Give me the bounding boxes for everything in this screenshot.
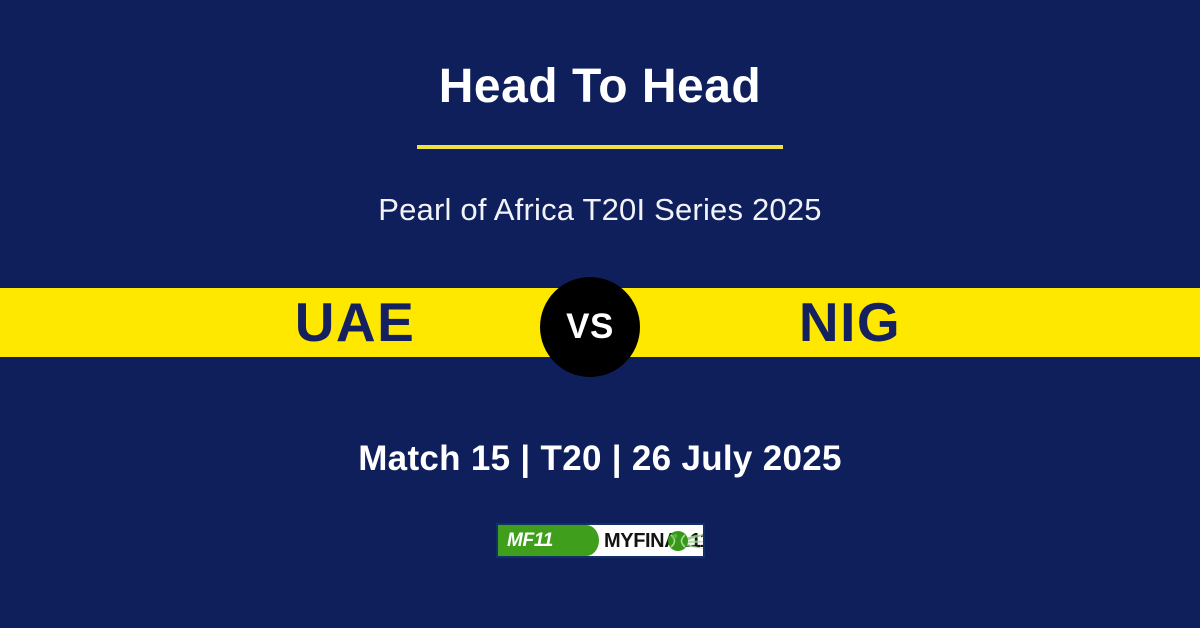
home-team-code: UAE [150,288,560,357]
brand-logo: MF11 MYFINAL11 [496,523,705,558]
series-subtitle: Pearl of Africa T20I Series 2025 [0,189,1200,231]
brand-wordmark: MYFINAL11 [586,525,705,556]
page-title: Head To Head [0,58,1200,116]
title-underline-rule [417,145,783,149]
match-meta: Match 15 | T20 | 26 July 2025 [0,437,1200,481]
away-team-code: NIG [645,288,1055,357]
brand-mark-label: MF11 [507,531,553,550]
versus-badge: VS [540,277,640,377]
title-block: Head To Head [0,58,1200,149]
cricket-ball-icon [667,529,705,553]
head-to-head-banner: Head To Head Pearl of Africa T20I Series… [0,0,1200,628]
brand-mark-pennant: MF11 [498,525,586,556]
